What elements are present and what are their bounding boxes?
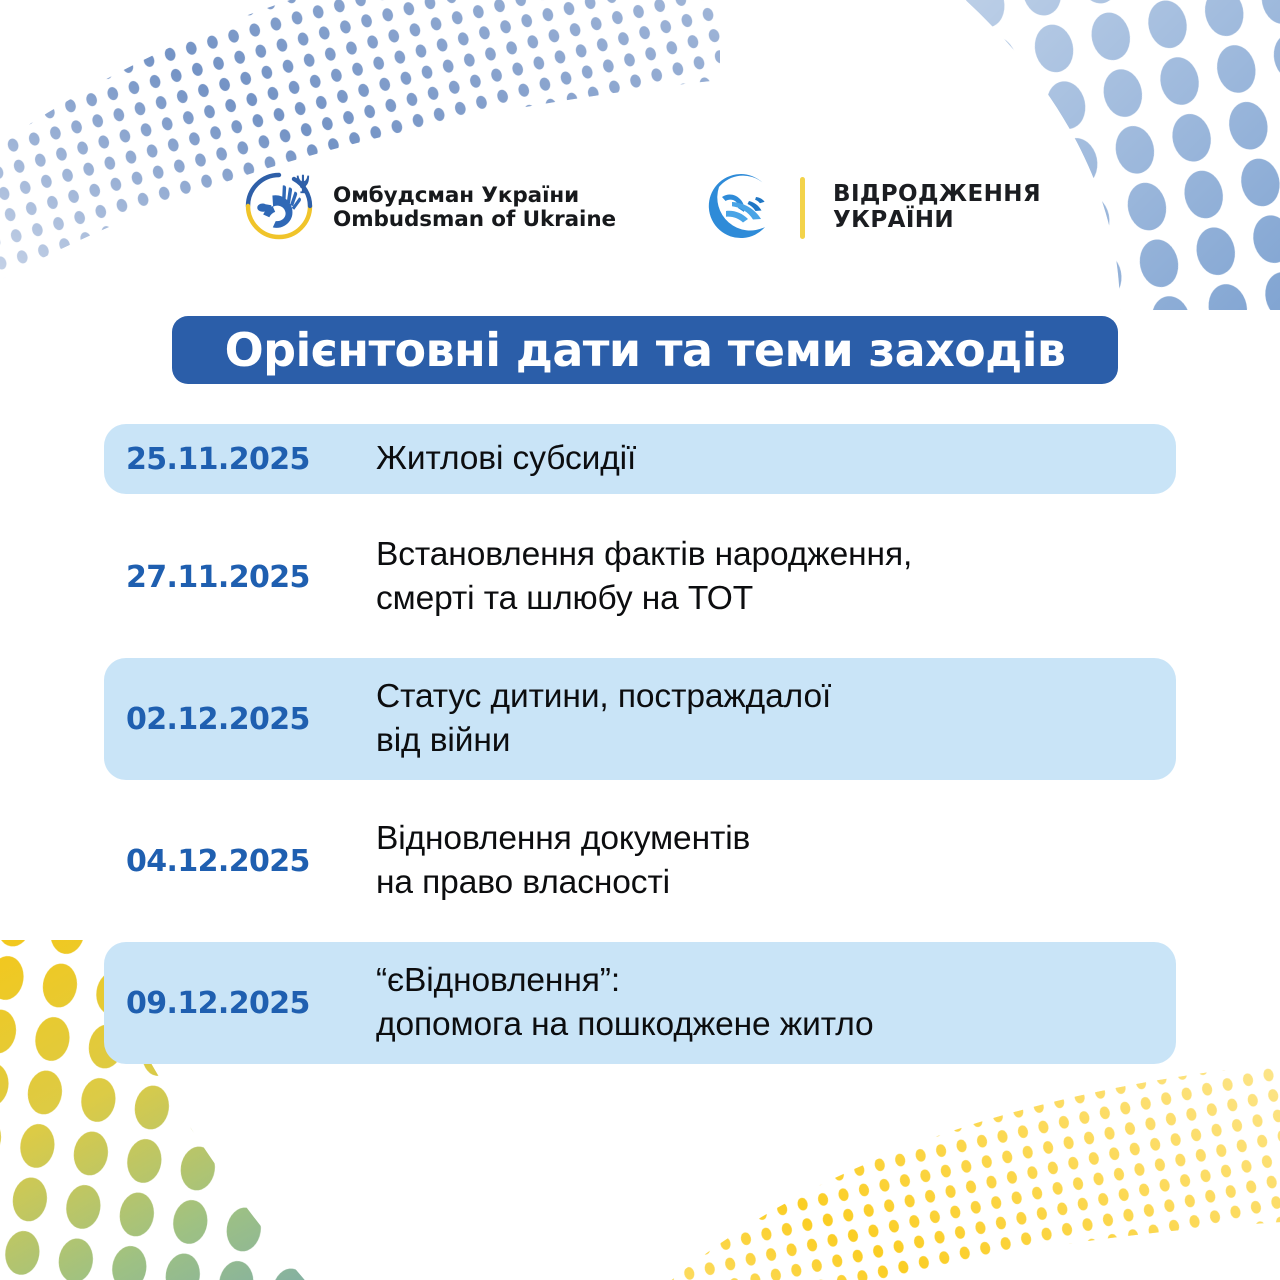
vidrodzhennia-logo-line-2: УКРАЇНИ	[833, 208, 1041, 234]
vidrodzhennia-logo: ВІДРОДЖЕННЯ УКРАЇНИ	[702, 169, 1041, 247]
page-title: Орієнтовні дати та теми заходів	[225, 327, 1066, 373]
logo-bar: Омбудсман України Ombudsman of Ukraine В…	[0, 160, 1280, 256]
schedule-row-2: 27.11.2025 Встановлення фактів народженн…	[104, 516, 1176, 638]
schedule-topic-1: Житлові субсидії	[376, 437, 1152, 481]
schedule-row-3: 02.12.2025 Статус дитини, постраждалої в…	[104, 658, 1176, 780]
ombudsman-logo-text: Омбудсман України Ombudsman of Ukraine	[333, 184, 616, 233]
page-title-banner: Орієнтовні дати та теми заходів	[172, 316, 1118, 384]
schedule-row-5: 09.12.2025 “єВідновлення”: допомога на п…	[104, 942, 1176, 1064]
schedule-date-3: 02.12.2025	[126, 702, 376, 737]
schedule-topic-5: “єВідновлення”: допомога на пошкоджене ж…	[376, 959, 1152, 1047]
phoenix-emblem-icon	[702, 169, 780, 247]
schedule-date-2: 27.11.2025	[126, 560, 376, 595]
ombudsman-emblem-icon	[239, 167, 319, 249]
poster-canvas: Омбудсман України Ombudsman of Ukraine В…	[0, 0, 1280, 1280]
ombudsman-logo-line-en: Ombudsman of Ukraine	[333, 208, 616, 233]
schedule-row-1: 25.11.2025 Житлові субсидії	[104, 424, 1176, 494]
blue-halftone-dots-top-right	[870, 0, 1280, 310]
vidrodzhennia-logo-line-1: ВІДРОДЖЕННЯ	[833, 182, 1041, 208]
vidrodzhennia-logo-text: ВІДРОДЖЕННЯ УКРАЇНИ	[833, 182, 1041, 234]
schedule-date-5: 09.12.2025	[126, 986, 376, 1021]
ombudsman-logo: Омбудсман України Ombudsman of Ukraine	[239, 167, 616, 249]
schedule-topic-3: Статус дитини, постраждалої від війни	[376, 675, 1152, 763]
schedule-topic-4: Відновлення документів на право власност…	[376, 817, 1152, 905]
ombudsman-logo-line-uk: Омбудсман України	[333, 184, 616, 209]
schedule-topic-2: Встановлення фактів народження, смерті т…	[376, 533, 1152, 621]
schedule-date-1: 25.11.2025	[126, 442, 376, 477]
schedule-row-4: 04.12.2025 Відновлення документів на пра…	[104, 800, 1176, 922]
schedule-list: 25.11.2025 Житлові субсидії 27.11.2025 В…	[104, 424, 1176, 1084]
schedule-date-4: 04.12.2025	[126, 844, 376, 879]
logo-divider	[800, 177, 805, 239]
